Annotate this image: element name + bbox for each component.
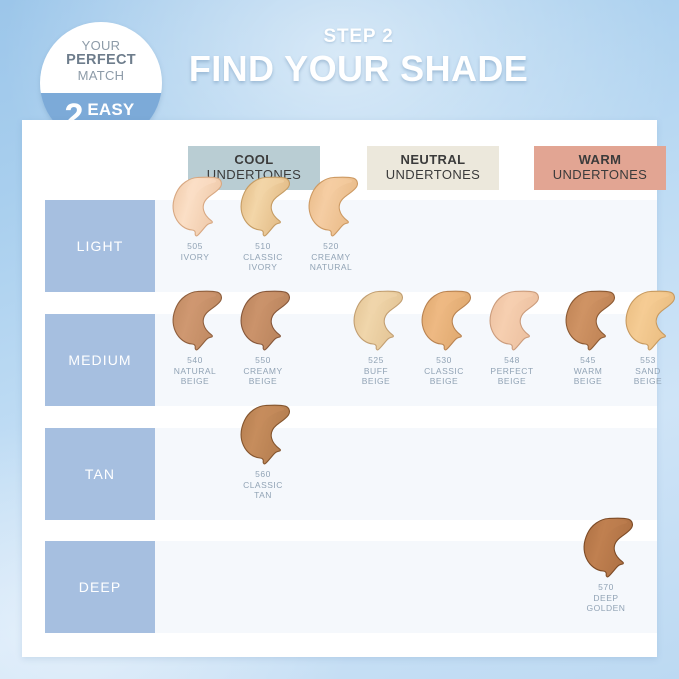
- badge-easy-label: EASY: [87, 101, 137, 118]
- shade-name: WARM BEIGE: [574, 366, 603, 387]
- badge-top-half: YOUR PERFECT MATCH: [40, 22, 162, 93]
- shade-label: 510CLASSIC IVORY: [243, 241, 283, 273]
- column-header-neutral-title: NEUTRAL: [401, 153, 466, 168]
- shade-swatch-540[interactable]: 540NATURAL BEIGE: [159, 290, 231, 428]
- shade-name: CLASSIC TAN: [243, 480, 283, 501]
- badge-line-your: YOUR: [82, 38, 121, 53]
- shade-name: IVORY: [181, 252, 210, 263]
- shade-name: CLASSIC IVORY: [243, 252, 283, 273]
- shade-code: 550: [243, 355, 282, 366]
- shade-row-light: LIGHT 505IVORY510CLASSIC IVORY520CREAMY …: [45, 200, 657, 292]
- foundation-smear-icon: [484, 290, 540, 352]
- shade-label: 525BUFF BEIGE: [362, 355, 390, 387]
- shade-label: 553SAND BEIGE: [634, 355, 662, 387]
- shade-name: PERFECT BEIGE: [490, 366, 533, 387]
- column-header-neutral-subtitle: UNDERTONES: [386, 168, 481, 183]
- column-header-neutral: NEUTRAL UNDERTONES: [367, 146, 499, 190]
- shade-label: 548PERFECT BEIGE: [490, 355, 533, 387]
- foundation-smear-icon: [167, 290, 223, 352]
- column-header-warm-title: WARM: [579, 153, 622, 168]
- shade-label: 570DEEP GOLDEN: [587, 582, 626, 614]
- shade-name: CLASSIC BEIGE: [424, 366, 464, 387]
- shade-name: CREAMY BEIGE: [243, 366, 282, 387]
- column-header-cool-title: COOL: [234, 153, 273, 168]
- foundation-smear-icon: [348, 290, 404, 352]
- row-label-medium: MEDIUM: [45, 314, 155, 406]
- shade-code: 553: [634, 355, 662, 366]
- shade-label: 560CLASSIC TAN: [243, 469, 283, 501]
- foundation-smear-icon: [303, 176, 359, 238]
- foundation-smear-icon: [560, 290, 616, 352]
- shade-code: 548: [490, 355, 533, 366]
- shade-swatch-525[interactable]: 525BUFF BEIGE: [340, 290, 412, 428]
- shade-chart-card: COOL UNDERTONES NEUTRAL UNDERTONES WARM …: [22, 120, 657, 657]
- shade-swatch-570[interactable]: 570DEEP GOLDEN: [570, 517, 642, 655]
- shade-label: 530CLASSIC BEIGE: [424, 355, 464, 387]
- shade-name: NATURAL BEIGE: [174, 366, 217, 387]
- column-header-warm: WARM UNDERTONES: [534, 146, 666, 190]
- shade-name: SAND BEIGE: [634, 366, 662, 387]
- shade-row-deep: DEEP 570DEEP GOLDEN: [45, 541, 657, 633]
- shade-label: 540NATURAL BEIGE: [174, 355, 217, 387]
- foundation-smear-icon: [416, 290, 472, 352]
- shade-swatch-553[interactable]: 553SAND BEIGE: [612, 290, 679, 428]
- shade-row-tan: TAN 560CLASSIC TAN: [45, 428, 657, 520]
- shade-swatch-560[interactable]: 560CLASSIC TAN: [227, 404, 299, 542]
- shade-label: 545WARM BEIGE: [574, 355, 603, 387]
- row-label-light: LIGHT: [45, 200, 155, 292]
- foundation-smear-icon: [578, 517, 634, 579]
- foundation-smear-icon: [235, 176, 291, 238]
- row-label-tan: TAN: [45, 428, 155, 520]
- shade-code: 510: [243, 241, 283, 252]
- shade-code: 570: [587, 582, 626, 593]
- shade-name: DEEP GOLDEN: [587, 593, 626, 614]
- foundation-smear-icon: [620, 290, 676, 352]
- shade-row-medium: MEDIUM 540NATURAL BEIGE550CREAMY BEIGE52…: [45, 314, 657, 406]
- badge-line-perfect: PERFECT: [66, 53, 136, 68]
- foundation-smear-icon: [235, 404, 291, 466]
- foundation-smear-icon: [235, 290, 291, 352]
- shade-label: 505IVORY: [181, 241, 210, 262]
- shade-label: 550CREAMY BEIGE: [243, 355, 282, 387]
- row-band-tan: [105, 428, 657, 520]
- shade-code: 540: [174, 355, 217, 366]
- foundation-smear-icon: [167, 176, 223, 238]
- shade-code: 525: [362, 355, 390, 366]
- shade-code: 545: [574, 355, 603, 366]
- shade-name: BUFF BEIGE: [362, 366, 390, 387]
- shade-code: 530: [424, 355, 464, 366]
- shade-code: 505: [181, 241, 210, 252]
- shade-code: 560: [243, 469, 283, 480]
- shade-code: 520: [310, 241, 353, 252]
- shade-swatch-530[interactable]: 530CLASSIC BEIGE: [408, 290, 480, 428]
- column-header-warm-subtitle: UNDERTONES: [553, 168, 648, 183]
- infographic-canvas: STEP 2 FIND YOUR SHADE YOUR PERFECT MATC…: [0, 0, 679, 679]
- row-label-deep: DEEP: [45, 541, 155, 633]
- shade-label: 520CREAMY NATURAL: [310, 241, 353, 273]
- shade-name: CREAMY NATURAL: [310, 252, 353, 273]
- badge-line-match: MATCH: [78, 68, 125, 83]
- shade-swatch-548[interactable]: 548PERFECT BEIGE: [476, 290, 548, 428]
